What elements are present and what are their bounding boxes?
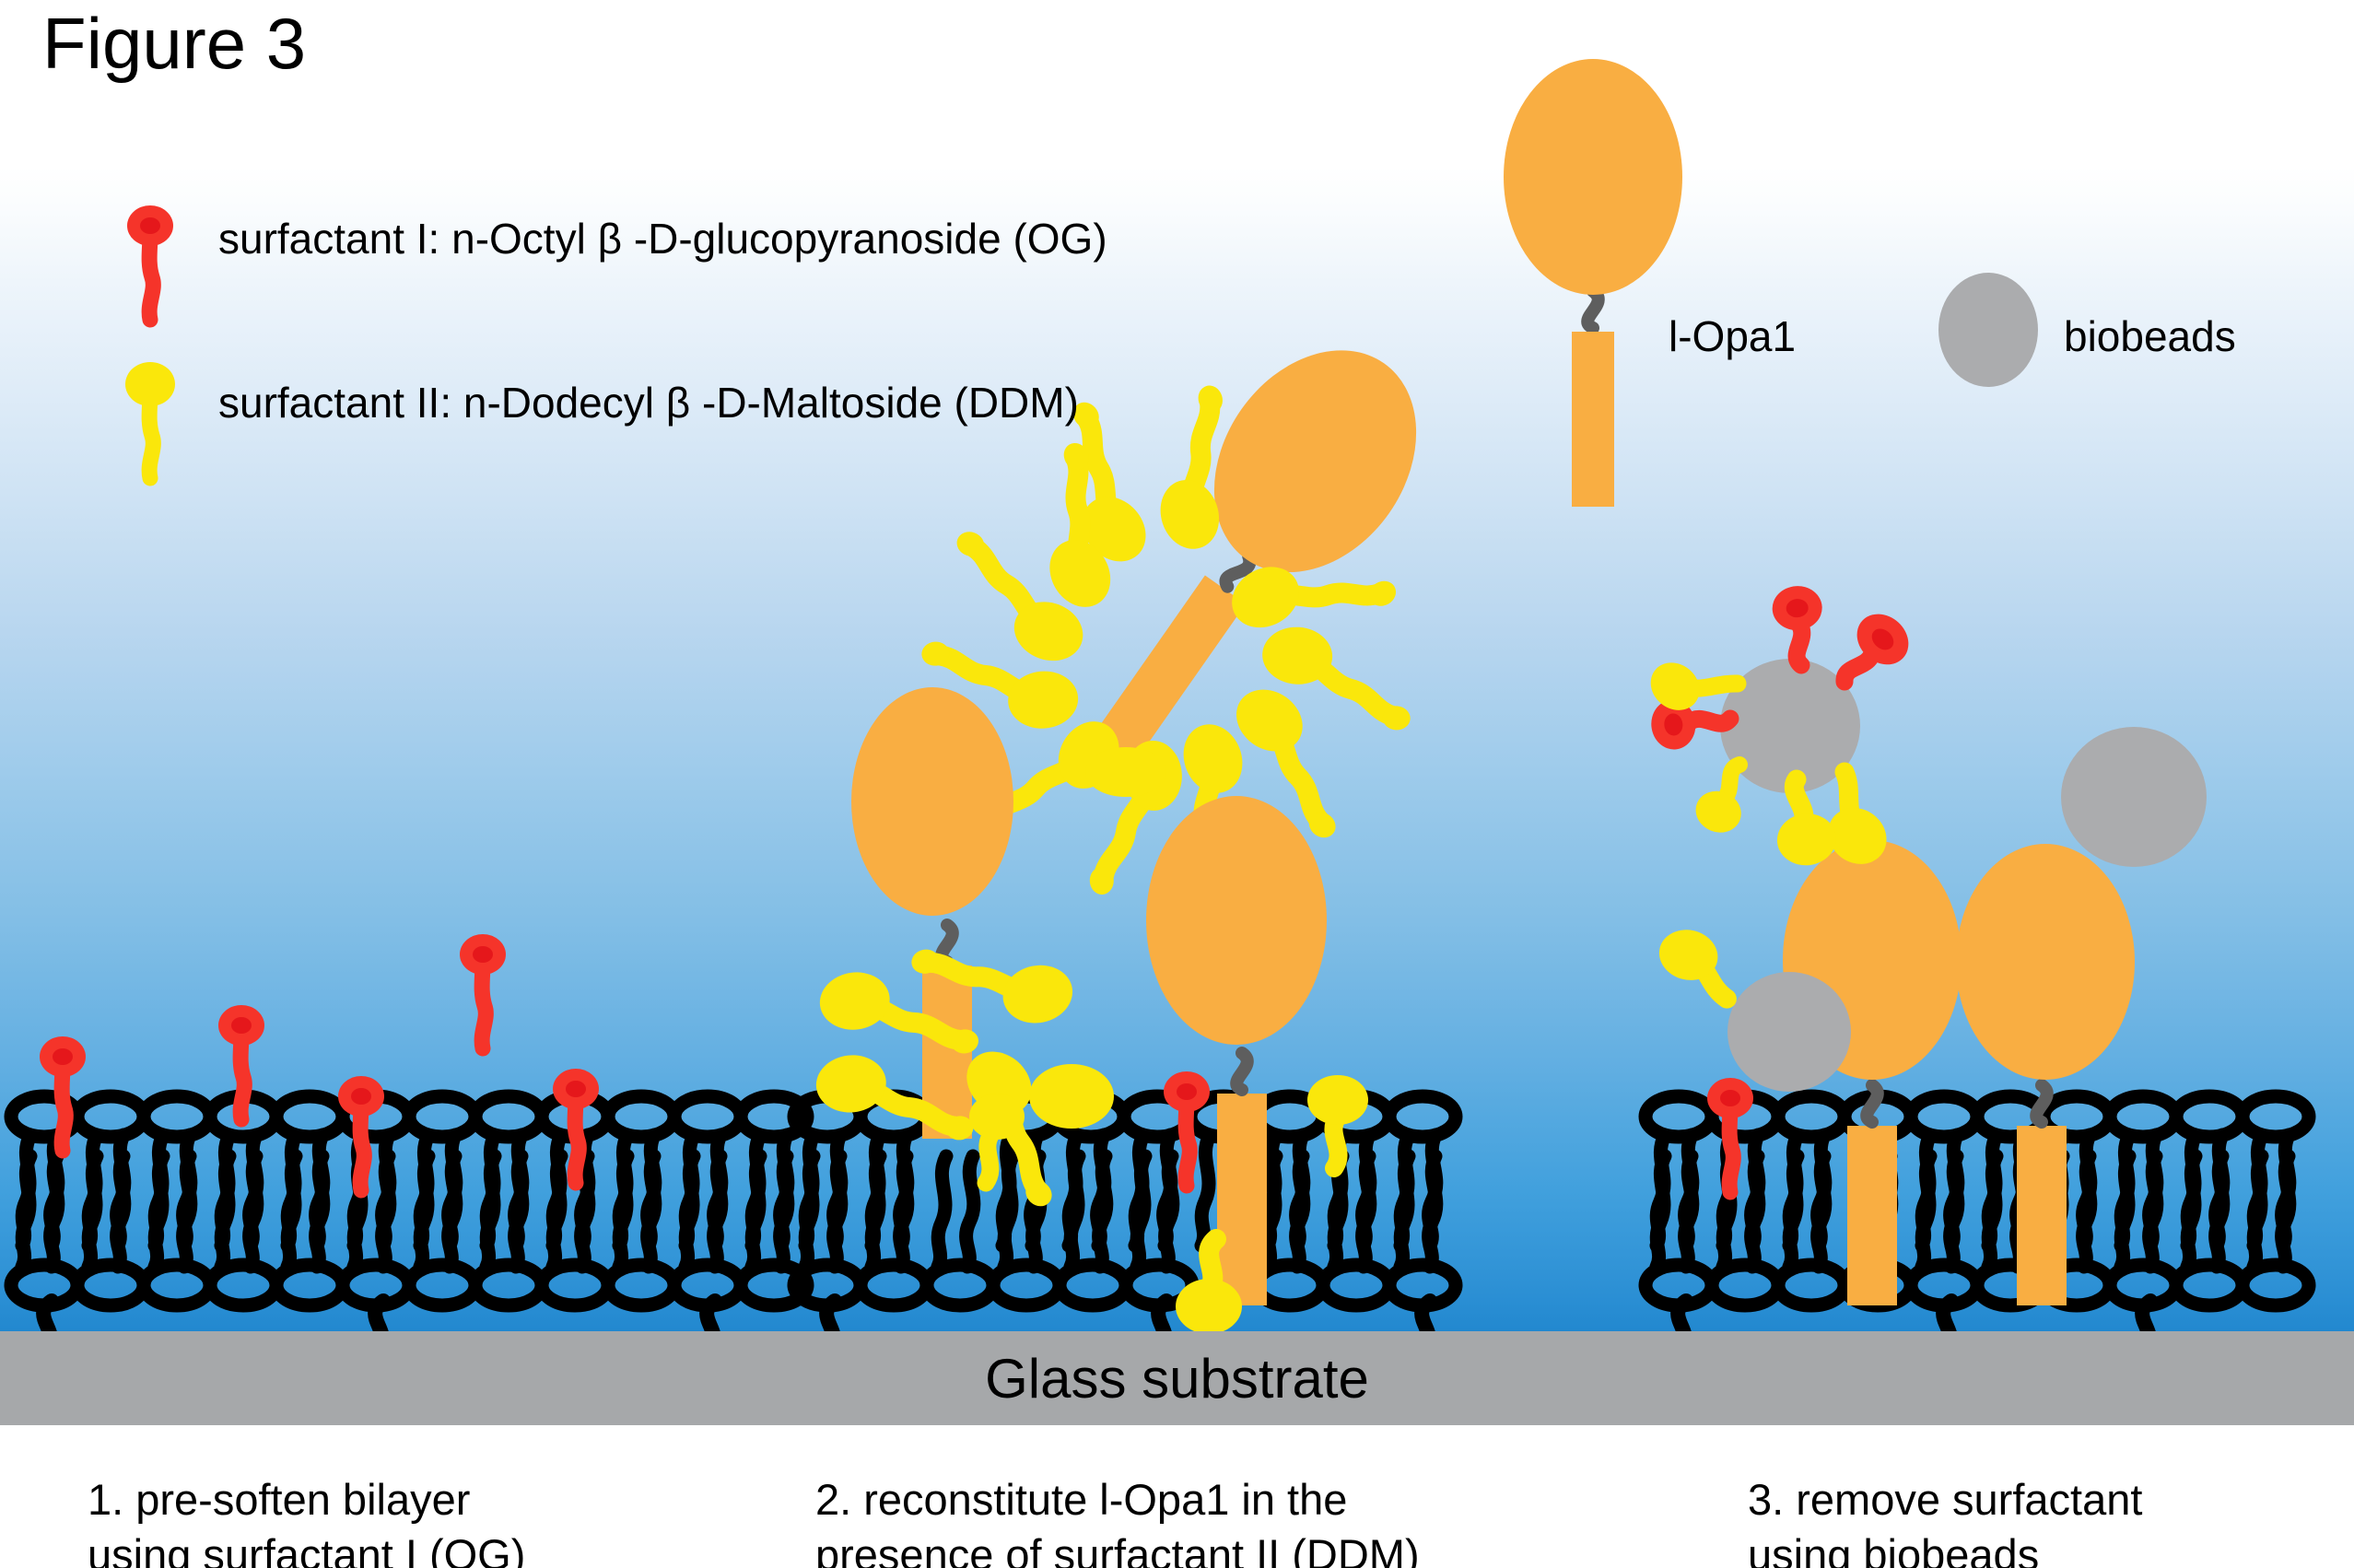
panel-1-caption-line1: 1. pre-soften bilayer	[88, 1472, 525, 1527]
panel-3-caption: 3. remove surfactant using biobeads	[1748, 1472, 2142, 1568]
figure-canvas: Figure 3	[0, 0, 2354, 1568]
panel-3-caption-line2: using biobeads	[1748, 1527, 2142, 1568]
legend-label-og: surfactant I: n-Octyl β -D-glucopyranosi…	[218, 214, 1107, 263]
glass-substrate-label: Glass substrate	[0, 1331, 2354, 1425]
page-title: Figure 3	[42, 2, 306, 86]
panel-2-caption-line2: presence of surfactant II (DDM)	[815, 1527, 1420, 1568]
panel-2-caption-line1: 2. reconstitute l-Opa1 in the	[815, 1472, 1420, 1527]
aqueous-gradient-background	[0, 166, 2354, 1331]
panel-3-caption-line1: 3. remove surfactant	[1748, 1472, 2142, 1527]
legend-label-biobeads: biobeads	[2064, 311, 2236, 361]
legend-label-ddm: surfactant II: n-Dodecyl β -D-Maltoside …	[218, 378, 1079, 427]
panel-1-caption-line2: using surfactant I (OG)	[88, 1527, 525, 1568]
panel-1-caption: 1. pre-soften bilayer using surfactant I…	[88, 1472, 525, 1568]
panel-2-caption: 2. reconstitute l-Opa1 in the presence o…	[815, 1472, 1420, 1568]
legend-label-l-opa1: l-Opa1	[1669, 311, 1796, 361]
